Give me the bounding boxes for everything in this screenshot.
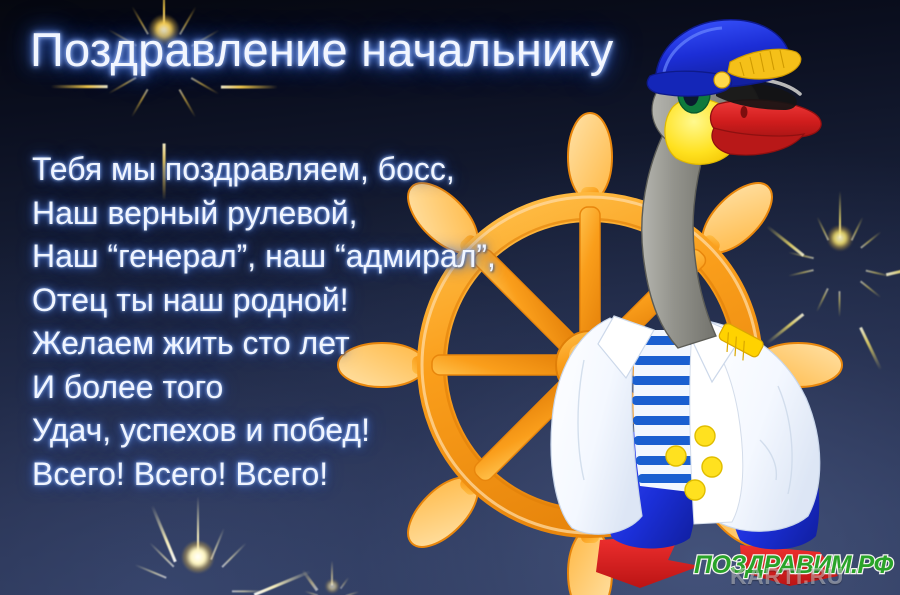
sparkle-ray bbox=[210, 528, 224, 560]
epaulette bbox=[718, 322, 765, 360]
sparkle-ray bbox=[345, 591, 359, 595]
goose-eye bbox=[678, 75, 710, 113]
poem-line: Желаем жить сто лет bbox=[32, 322, 552, 366]
poem-line: Отец ты наш родной! bbox=[32, 279, 552, 323]
sparkle-ray bbox=[788, 252, 814, 259]
jacket-collar-left bbox=[598, 316, 654, 378]
left-trouser-leg bbox=[605, 432, 696, 549]
sparkle-ray bbox=[232, 590, 266, 592]
sparkle-ray bbox=[860, 231, 882, 249]
poem-line: И более того bbox=[32, 366, 552, 410]
sparkle-ray bbox=[50, 86, 107, 89]
shirt-stripes bbox=[632, 336, 698, 483]
sparkle-core bbox=[828, 226, 853, 251]
cheek-patch bbox=[665, 98, 738, 164]
beak-upper bbox=[711, 100, 822, 140]
sparkle-ray bbox=[839, 191, 842, 238]
sparkle-ray bbox=[149, 542, 174, 567]
poem-block: Тебя мы поздравляем, босс,Наш верный рул… bbox=[32, 148, 552, 496]
sparkle-ray bbox=[135, 564, 167, 578]
jacket-collar-right bbox=[690, 318, 742, 382]
poem-line: Удач, успехов и побед! bbox=[32, 409, 552, 453]
cap-visor bbox=[716, 83, 797, 110]
left-foot bbox=[596, 534, 700, 588]
sparkle-ray bbox=[816, 217, 829, 241]
character-trousers bbox=[605, 428, 820, 549]
sparkle-ray bbox=[301, 569, 318, 591]
page-title: Поздравление начальнику bbox=[30, 22, 613, 78]
sparkle-ray bbox=[886, 263, 900, 276]
sparkle-ray bbox=[766, 225, 804, 256]
watermark: ПОЗДРАВИМ.РФ KARTI.RU bbox=[694, 549, 900, 589]
sparkle-core bbox=[325, 579, 339, 593]
sailor-shirt bbox=[632, 330, 698, 492]
sparkle-ray bbox=[859, 327, 882, 370]
sparkle-ray bbox=[191, 77, 219, 94]
wheel-hub bbox=[556, 331, 624, 399]
sparkle-ray bbox=[860, 280, 882, 298]
poem-line: Наш верный рулевой, bbox=[32, 192, 552, 236]
goose-neck bbox=[642, 108, 722, 348]
nostril bbox=[741, 106, 748, 118]
sparkle-ray bbox=[839, 291, 841, 317]
sparkle-ray bbox=[131, 89, 148, 117]
right-trouser-leg bbox=[730, 428, 820, 549]
captain-cap bbox=[647, 20, 801, 96]
poem-line: Тебя мы поздравляем, босс, bbox=[32, 148, 552, 192]
sparkle-ray bbox=[816, 288, 829, 312]
beak-lower bbox=[712, 128, 804, 155]
sparkle-ray bbox=[851, 217, 864, 241]
sparkle-ray bbox=[222, 542, 247, 567]
sparkle-ray bbox=[108, 77, 136, 94]
sparkle-ray bbox=[866, 270, 892, 277]
cap-button bbox=[714, 72, 730, 88]
sparkle-ray bbox=[179, 89, 196, 117]
sparkle-ray bbox=[197, 496, 200, 557]
sparkle-bottom-left bbox=[136, 495, 260, 595]
greeting-card: Поздравление начальнику Тебя мы поздравл… bbox=[0, 0, 900, 595]
sparkle-ray bbox=[340, 577, 350, 589]
watermark-overlay: KARTI.RU bbox=[730, 563, 844, 590]
cap-braid bbox=[714, 49, 801, 88]
sparkle-bottom-small bbox=[306, 560, 358, 595]
sparkle-ray bbox=[221, 86, 278, 89]
sparkle-ray bbox=[331, 561, 334, 586]
sparkle-ray bbox=[305, 591, 319, 595]
sparkle-wheel-upper-right bbox=[792, 190, 888, 286]
sparkle-ray bbox=[766, 313, 804, 344]
jacket-buttons bbox=[666, 426, 722, 500]
captain-jacket bbox=[551, 316, 820, 534]
sparkle-ray bbox=[254, 570, 311, 595]
sparkle-ray bbox=[788, 270, 814, 277]
poem-line: Наш “генерал”, наш “адмирал”, bbox=[32, 235, 552, 279]
sparkle-ray bbox=[150, 505, 176, 562]
goose-head bbox=[652, 66, 821, 164]
sparkle-core bbox=[182, 541, 214, 573]
poem-line: Всего! Всего! Всего! bbox=[32, 453, 552, 497]
